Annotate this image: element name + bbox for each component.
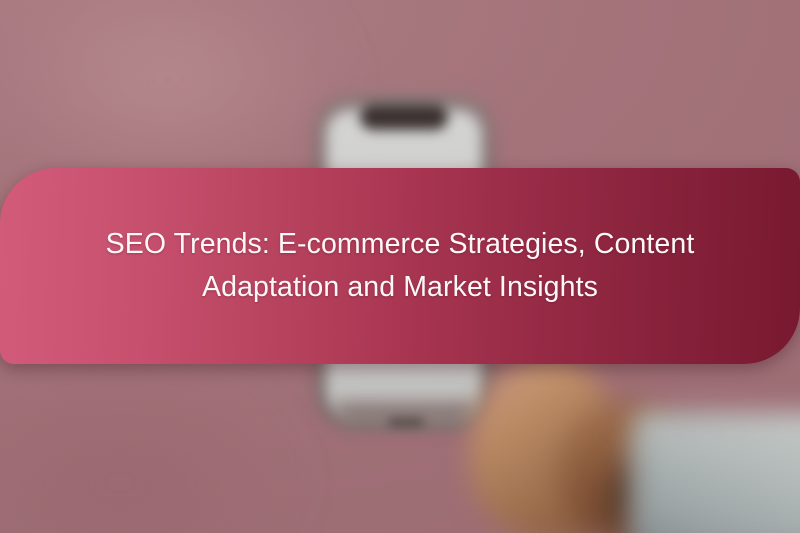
photo-shadow-bottom-left <box>0 336 352 533</box>
clothing-sleeve <box>636 412 800 533</box>
title-banner: SEO Trends: E-commerce Strategies, Conte… <box>0 168 800 364</box>
smartphone-notch <box>360 104 448 130</box>
screenshot-root: SEO Trends: E-commerce Strategies, Conte… <box>0 0 800 533</box>
smartphone-home-indicator <box>388 418 424 427</box>
page-title: SEO Trends: E-commerce Strategies, Conte… <box>106 223 695 310</box>
